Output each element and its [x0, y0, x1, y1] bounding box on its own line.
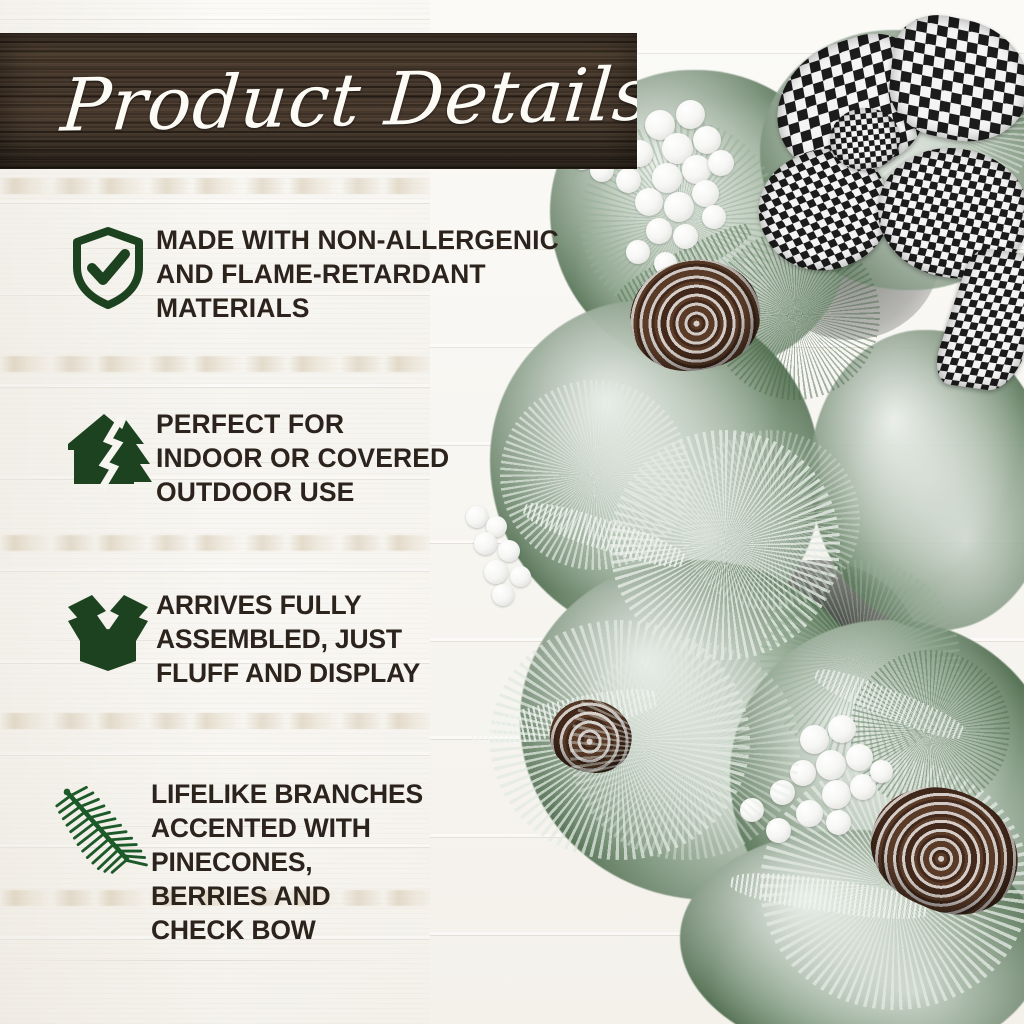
feature-text: ARRIVES FULLY ASSEMBLED, JUST FLUFF AND …: [156, 589, 420, 691]
feature-item-lifelike-branches: LIFELIKE BRANCHES ACCENTED WITH PINECONE…: [55, 778, 423, 948]
feature-item-materials: MADE WITH NON-ALLERGENIC AND FLAME-RETAR…: [60, 224, 559, 326]
feature-text: MADE WITH NON-ALLERGENIC AND FLAME-RETAR…: [156, 224, 559, 326]
feature-item-assembled: ARRIVES FULLY ASSEMBLED, JUST FLUFF AND …: [60, 589, 420, 691]
open-box-icon: [60, 589, 156, 673]
feature-item-indoor-outdoor: PERFECT FOR INDOOR OR COVERED OUTDOOR US…: [60, 408, 449, 510]
plank-seam-distress: [0, 356, 1024, 372]
page-title: Product Details: [58, 61, 637, 142]
product-details-infographic: Product Details MADE WITH NON-ALLERGENIC…: [0, 0, 1024, 1024]
house-tree-icon: [60, 408, 156, 490]
header-banner: Product Details: [0, 33, 637, 169]
shield-check-icon: [60, 224, 156, 310]
wood-grain-line: [0, 960, 420, 961]
feature-text: LIFELIKE BRANCHES ACCENTED WITH PINECONE…: [151, 778, 423, 948]
pine-branch-icon: [55, 778, 151, 876]
plank-seam-distress: [0, 178, 1024, 194]
feature-text: PERFECT FOR INDOOR OR COVERED OUTDOOR US…: [156, 408, 449, 510]
plank-seam-distress: [0, 713, 1024, 729]
plank-seam-distress: [0, 535, 1024, 551]
